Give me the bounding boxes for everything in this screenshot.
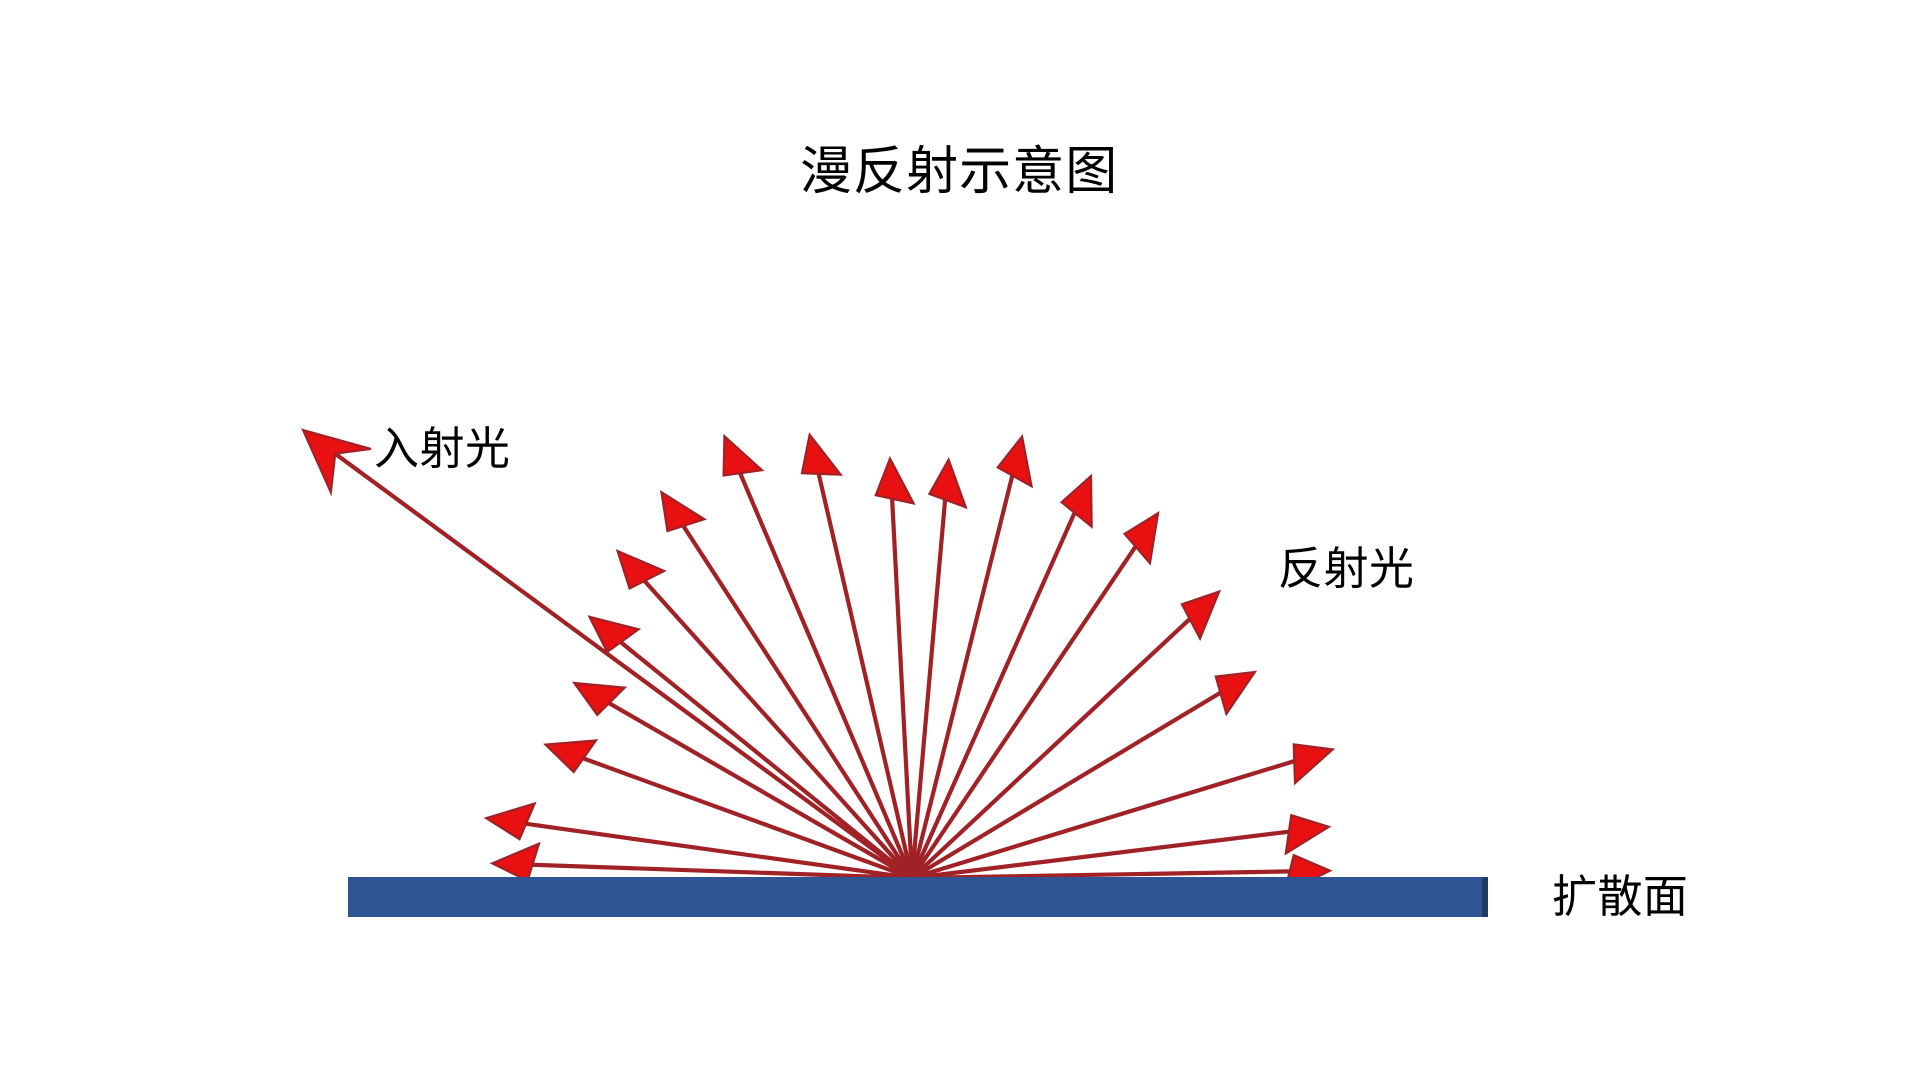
ray-line-12 bbox=[912, 499, 1081, 878]
ray-arrowhead-16 bbox=[1294, 744, 1333, 783]
ray-line-6 bbox=[675, 513, 912, 878]
reflected-ray bbox=[912, 476, 1092, 878]
incident-arrowhead bbox=[303, 430, 371, 492]
ray-arrowhead-15 bbox=[1216, 672, 1255, 714]
label-diffuse-surface: 扩散面 bbox=[1552, 874, 1688, 919]
ray-arrowhead-14 bbox=[1182, 592, 1219, 639]
ray-line-14 bbox=[912, 609, 1201, 878]
label-reflected-rays: 反射光 bbox=[1278, 546, 1414, 591]
reflected-ray bbox=[912, 815, 1329, 878]
ray-line-2 bbox=[569, 753, 912, 878]
reflected-ray bbox=[546, 740, 912, 878]
ray-arrowhead-7 bbox=[724, 436, 762, 475]
reflected-ray bbox=[574, 683, 912, 878]
diagram-canvas: 漫反射示意图 入射光 反射光 扩散面 bbox=[0, 0, 1920, 1080]
reflected-ray bbox=[618, 551, 912, 878]
ray-line-5 bbox=[635, 570, 912, 878]
diffuse-surface-bar bbox=[348, 877, 1488, 917]
ray-arrowhead-11 bbox=[998, 437, 1032, 487]
incident-ray-group bbox=[303, 430, 912, 878]
ray-arrowhead-2 bbox=[546, 740, 596, 772]
reflected-ray bbox=[912, 592, 1219, 878]
ray-arrowhead-17 bbox=[1286, 815, 1329, 853]
ray-arrowhead-1 bbox=[486, 804, 535, 840]
incident-ray-line bbox=[336, 454, 912, 878]
ray-line-11 bbox=[912, 461, 1016, 878]
ray-arrowhead-9 bbox=[876, 459, 914, 504]
reflected-ray bbox=[912, 513, 1158, 878]
diffuse-surface-end-cap bbox=[1482, 877, 1488, 917]
ray-line-9 bbox=[891, 484, 912, 878]
ray-line-16 bbox=[912, 757, 1309, 878]
reflected-ray bbox=[661, 492, 912, 878]
ray-arrowhead-12 bbox=[1062, 476, 1092, 527]
reflected-ray bbox=[912, 672, 1255, 878]
reflected-ray bbox=[724, 436, 912, 878]
ray-line-10 bbox=[912, 485, 946, 878]
ray-arrowhead-5 bbox=[618, 551, 665, 588]
reflected-ray bbox=[912, 744, 1333, 878]
reflected-rays-group bbox=[486, 435, 1333, 893]
page-title: 漫反射示意图 bbox=[800, 146, 1118, 198]
ray-line-13 bbox=[912, 534, 1144, 878]
reflected-ray bbox=[876, 459, 914, 878]
ray-arrowhead-6 bbox=[661, 492, 704, 531]
ray-arrowhead-10 bbox=[929, 460, 965, 508]
diffuse-surface-group bbox=[348, 877, 1488, 917]
ray-line-15 bbox=[912, 685, 1233, 878]
ray-arrowhead-8 bbox=[802, 435, 841, 475]
label-incident-ray: 入射光 bbox=[374, 426, 510, 471]
ray-line-3 bbox=[596, 696, 912, 878]
ray-arrowhead-0 bbox=[492, 844, 539, 881]
